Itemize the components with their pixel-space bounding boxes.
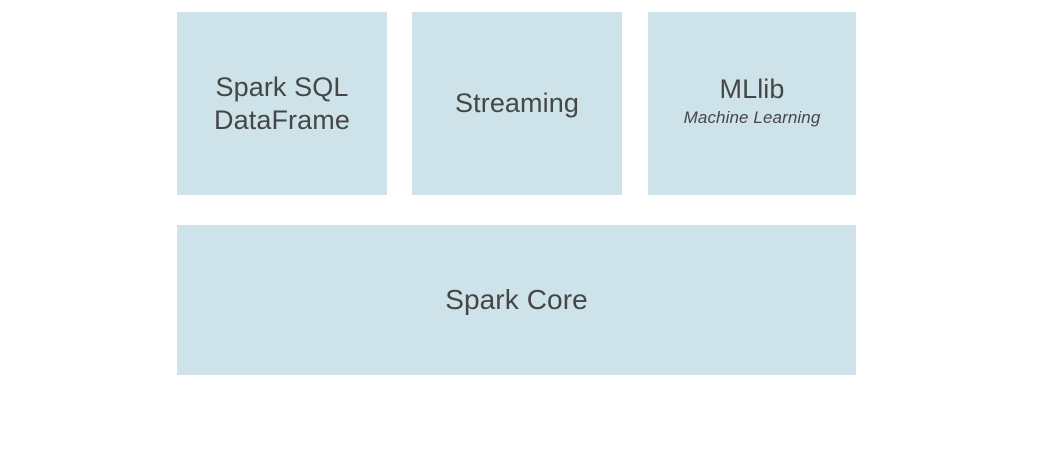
spark-stack-diagram: Spark SQL DataFrame Streaming MLlib Mach… [0, 0, 1053, 457]
spark-core-title: Spark Core [445, 283, 588, 317]
diagram-box-spark-sql[interactable]: Spark SQL DataFrame [177, 12, 387, 195]
mllib-title: MLlib [684, 73, 821, 106]
spark-core-text-stack: Spark Core [445, 283, 588, 317]
streaming-title: Streaming [455, 87, 579, 120]
spark-sql-text-stack: Spark SQL DataFrame [214, 71, 350, 137]
mllib-text-stack: MLlib Machine Learning [684, 73, 821, 128]
streaming-text-stack: Streaming [455, 87, 579, 120]
diagram-box-streaming[interactable]: Streaming [412, 12, 622, 195]
diagram-box-mllib[interactable]: MLlib Machine Learning [648, 12, 856, 195]
diagram-box-spark-core[interactable]: Spark Core [177, 225, 856, 375]
mllib-subtitle: Machine Learning [684, 107, 821, 128]
spark-sql-title: Spark SQL DataFrame [214, 71, 350, 137]
